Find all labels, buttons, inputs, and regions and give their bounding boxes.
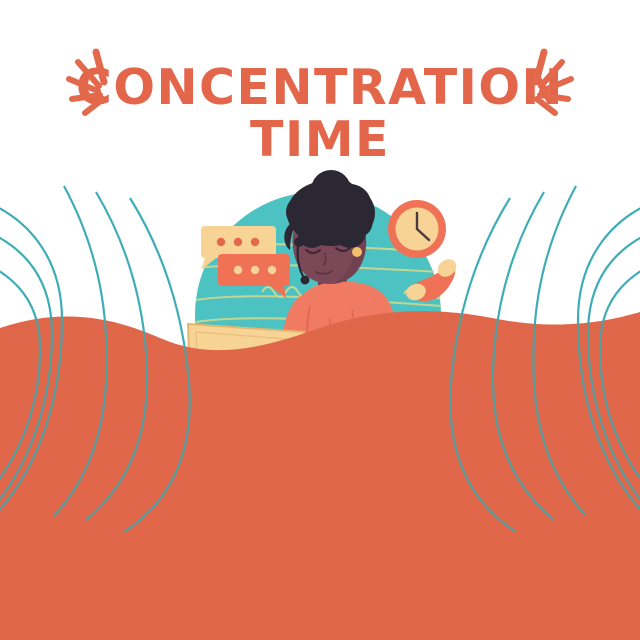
foreground-wave xyxy=(0,311,640,640)
speech-bubble-top-dot xyxy=(251,238,259,246)
earring xyxy=(352,247,362,257)
speech-bubble-bottom-dot xyxy=(234,266,242,274)
speech-bubble-bottom-dot xyxy=(251,266,259,274)
poster-canvas: CONCENTRATION TIME xyxy=(0,0,640,640)
speech-bubble-top-dot xyxy=(234,238,242,246)
speech-bubble-top-dot xyxy=(217,238,225,246)
speech-bubble-bottom-dot xyxy=(268,266,276,274)
title-line-2: TIME xyxy=(250,111,390,168)
clock-icon xyxy=(388,200,446,258)
title-line-1: CONCENTRATION xyxy=(76,59,564,116)
